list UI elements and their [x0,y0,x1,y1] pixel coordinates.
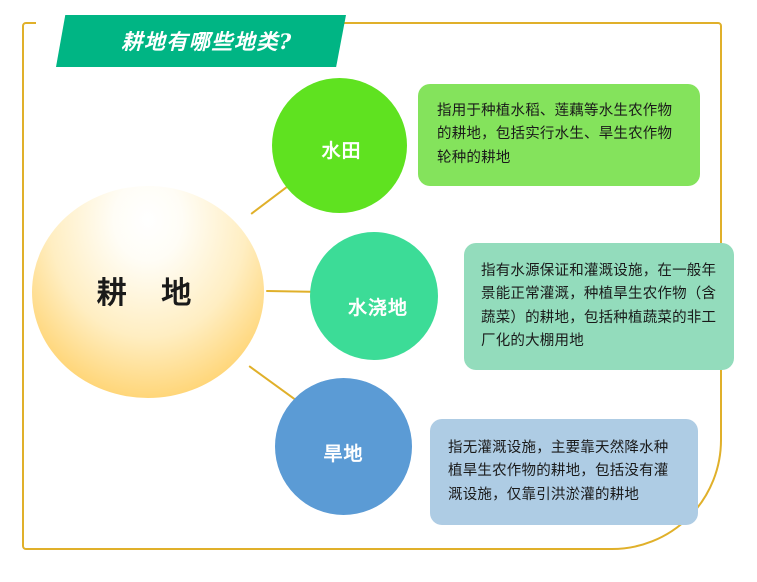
description-text-irrigated-land: 指有水源保证和灌溉设施，在一般年景能正常灌溉，种植旱生农作物（含蔬菜）的耕地，包… [481,260,718,354]
node-label-paddy-field: 水田 [321,136,361,163]
description-text-paddy-field: 指用于种植水稻、莲藕等水生农作物的耕地，包括实行水生、旱生农作物轮种的耕地 [437,100,682,170]
center-node-label: 耕 地 [97,268,203,312]
description-text-dry-land: 指无灌溉设施，主要靠天然降水种植旱生农作物的耕地，包括没有灌溉设施，仅靠引洪淤灌… [448,437,682,507]
slide-canvas: 耕地有哪些地类? 耕 地 水田 水浇地 旱地 指用于种植水稻、莲藕等水生农作物的… [0,0,757,582]
node-label-irrigated-land: 水浇地 [348,293,408,320]
title-banner: 耕地有哪些地类? [56,15,346,67]
center-node-farmland: 耕 地 [32,186,264,398]
description-box-paddy-field: 指用于种植水稻、莲藕等水生农作物的耕地，包括实行水生、旱生农作物轮种的耕地 [418,84,700,186]
node-label-dry-land: 旱地 [323,439,363,466]
description-box-irrigated-land: 指有水源保证和灌溉设施，在一般年景能正常灌溉，种植旱生农作物（含蔬菜）的耕地，包… [464,243,734,370]
node-circle-paddy-field: 水田 [272,78,407,213]
slide-title: 耕地有哪些地类? [121,26,292,56]
description-box-dry-land: 指无灌溉设施，主要靠天然降水种植旱生农作物的耕地，包括没有灌溉设施，仅靠引洪淤灌… [430,419,698,525]
node-circle-irrigated-land: 水浇地 [310,232,438,360]
node-circle-dry-land: 旱地 [275,378,412,515]
